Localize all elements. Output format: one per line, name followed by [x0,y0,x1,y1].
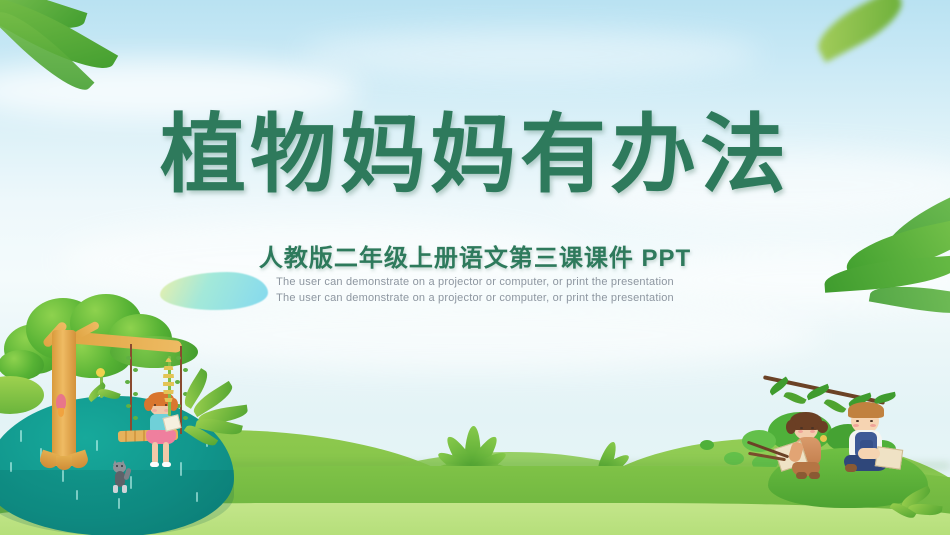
kid-girl-bun [817,421,828,433]
girl-leg [163,442,169,464]
flower-icon [96,368,105,377]
bush-blob [0,376,44,414]
leaf-icon [810,0,911,63]
english-caption-line-2: The user can demonstrate on a projector … [0,292,950,304]
plant-seeds [163,358,174,406]
girl-skirt [146,430,176,444]
girl-leg [152,442,158,464]
page-subtitle: 人教版二年级上册语文第三课课件 PPT [0,238,950,273]
cloud-streak [120,300,820,370]
cat-icon [110,462,132,494]
kid-girl-collar [820,435,827,442]
cloud-streak [300,30,760,78]
english-caption-line-1: The user can demonstrate on a projector … [0,276,950,288]
kid-boy-hair [848,402,884,418]
tree-root [56,456,72,470]
page-title: 植物妈妈有办法 [0,112,950,198]
kid-boy-hands [858,448,880,459]
presentation-slide: 植物妈妈有办法 人教版二年级上册语文第三课课件 PPT The user can… [0,0,950,535]
bird-tail [58,408,64,417]
kid-girl-hair [786,420,796,434]
leaf-cluster-icon [0,0,164,106]
tree-branch [762,382,912,426]
bush-blob [700,440,714,450]
